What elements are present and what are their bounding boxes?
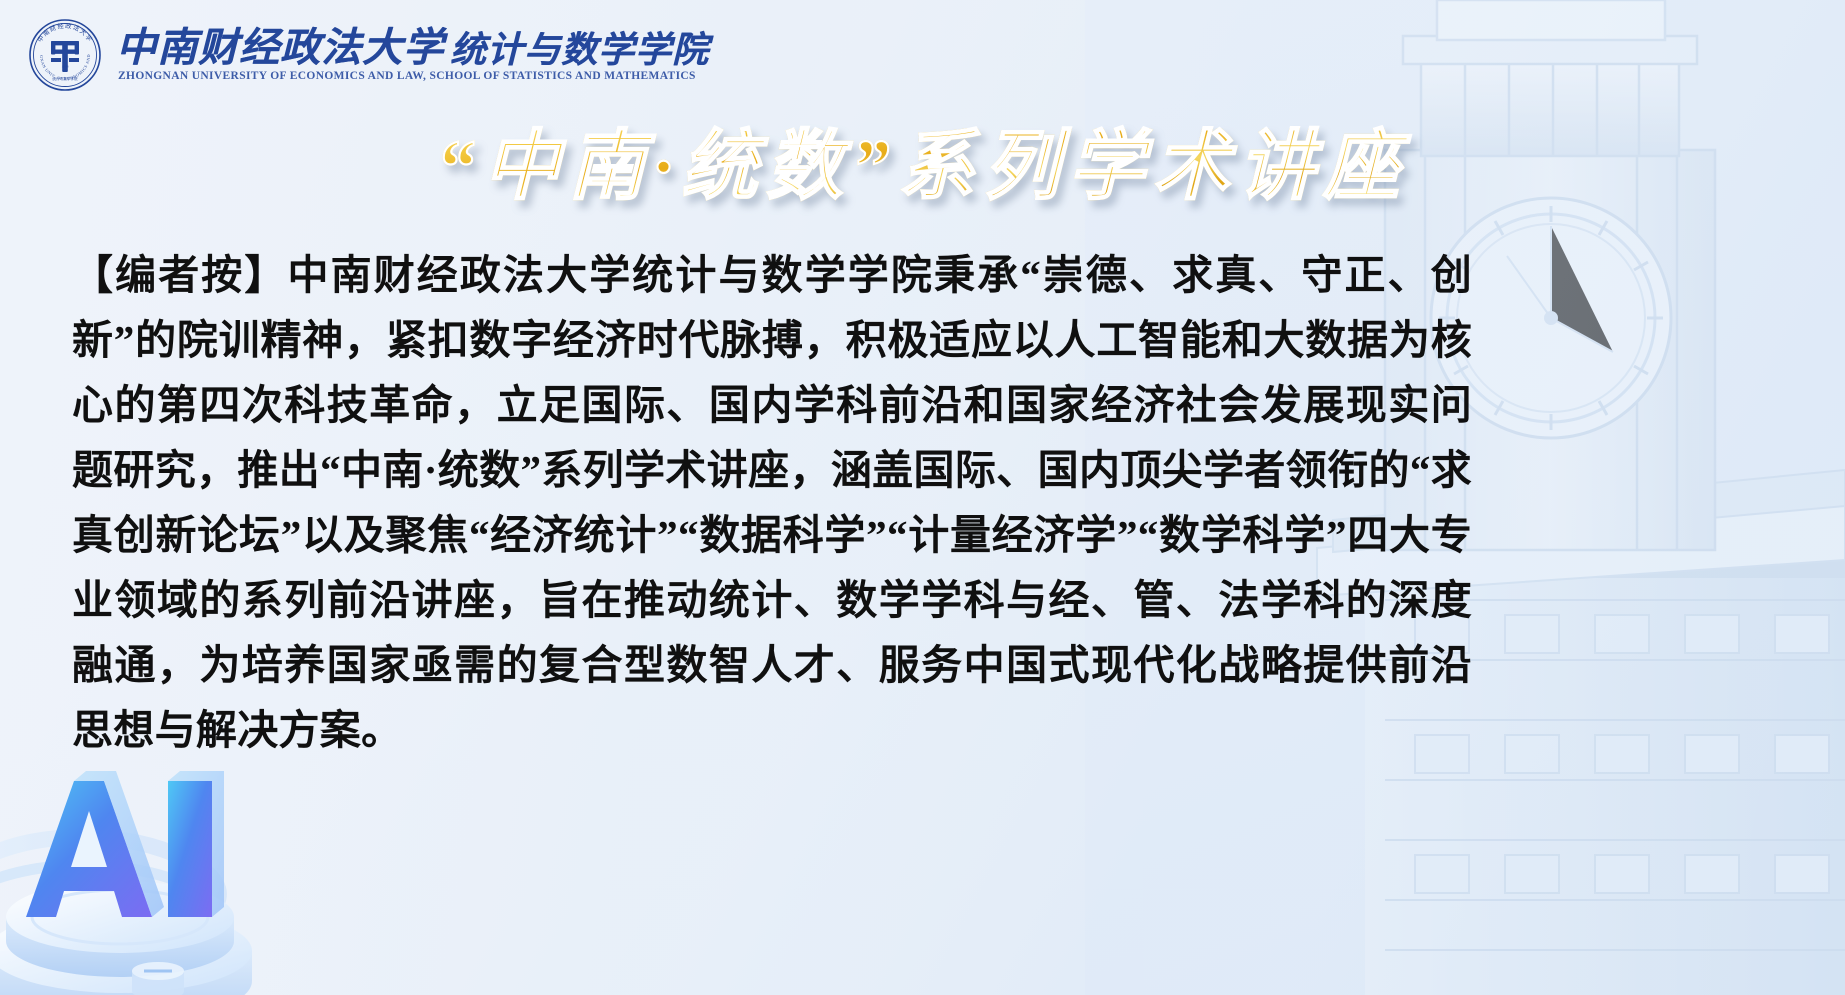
- svg-text:统计与数学学院: 统计与数学学院: [52, 76, 78, 81]
- editor-note-body: 【编者按】中南财经政法大学统计与数学学院秉承“崇德、求真、守正、创新”的院训精神…: [72, 243, 1472, 763]
- institution-name-cn: 中南财经政法大学 统计与数学学院: [116, 28, 709, 68]
- svg-text:1948: 1948: [62, 65, 69, 69]
- institution-header: 中南财经政法大学 ZHONGNAN UNIV. OF ECONOMICS AND…: [28, 18, 709, 92]
- university-name-cn: 中南财经政法大学: [116, 28, 444, 68]
- gold-title-text: “中南·统数”系列学术讲座: [437, 128, 1409, 208]
- institution-name-block: 中南财经政法大学 统计与数学学院 ZHONGNAN UNIVERSITY OF …: [116, 28, 709, 82]
- school-name-cn: 统计与数学学院: [450, 32, 709, 68]
- poster-root: 中南财经政法大学 ZHONGNAN UNIV. OF ECONOMICS AND…: [0, 0, 1845, 995]
- page-title: “中南·统数”系列学术讲座: [0, 128, 1845, 208]
- svg-text:中南财经政法大学: 中南财经政法大学: [35, 21, 95, 44]
- institution-name-en: ZHONGNAN UNIVERSITY OF ECONOMICS AND LAW…: [116, 70, 709, 82]
- editor-note-paragraph: 【编者按】中南财经政法大学统计与数学学院秉承“崇德、求真、守正、创新”的院训精神…: [72, 243, 1472, 763]
- university-seal-icon: 中南财经政法大学 ZHONGNAN UNIV. OF ECONOMICS AND…: [28, 18, 102, 92]
